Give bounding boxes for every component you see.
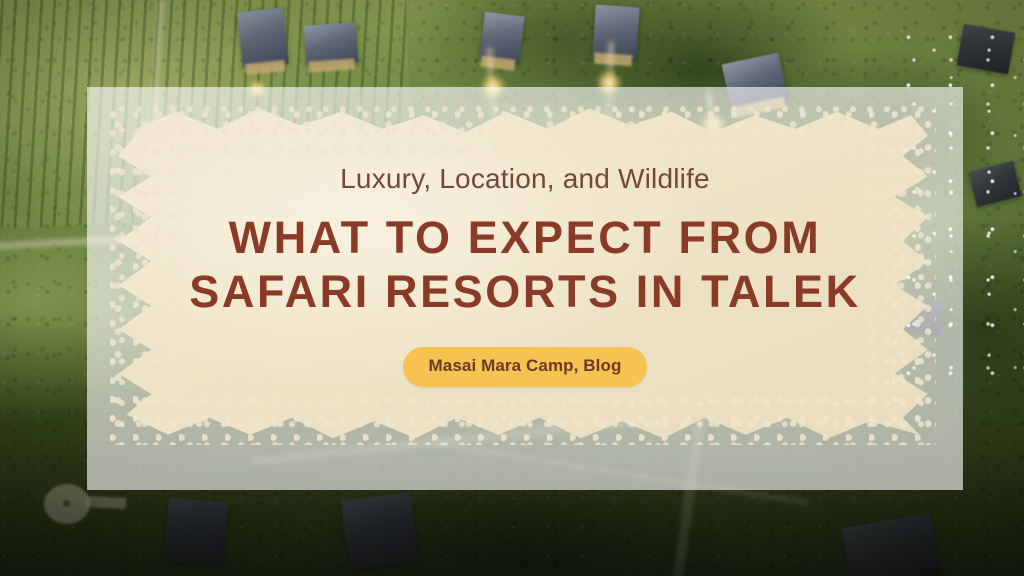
banner-graphic: Luxury, Location, and Wildlife WHAT TO E… bbox=[0, 0, 1024, 576]
banner-subtitle: Luxury, Location, and Wildlife bbox=[340, 163, 710, 195]
source-badge: Masai Mara Camp, Blog bbox=[403, 347, 648, 387]
banner-content: Luxury, Location, and Wildlife WHAT TO E… bbox=[87, 105, 963, 445]
banner-title: WHAT TO EXPECT FROM SAFARI RESORTS IN TA… bbox=[189, 211, 861, 319]
